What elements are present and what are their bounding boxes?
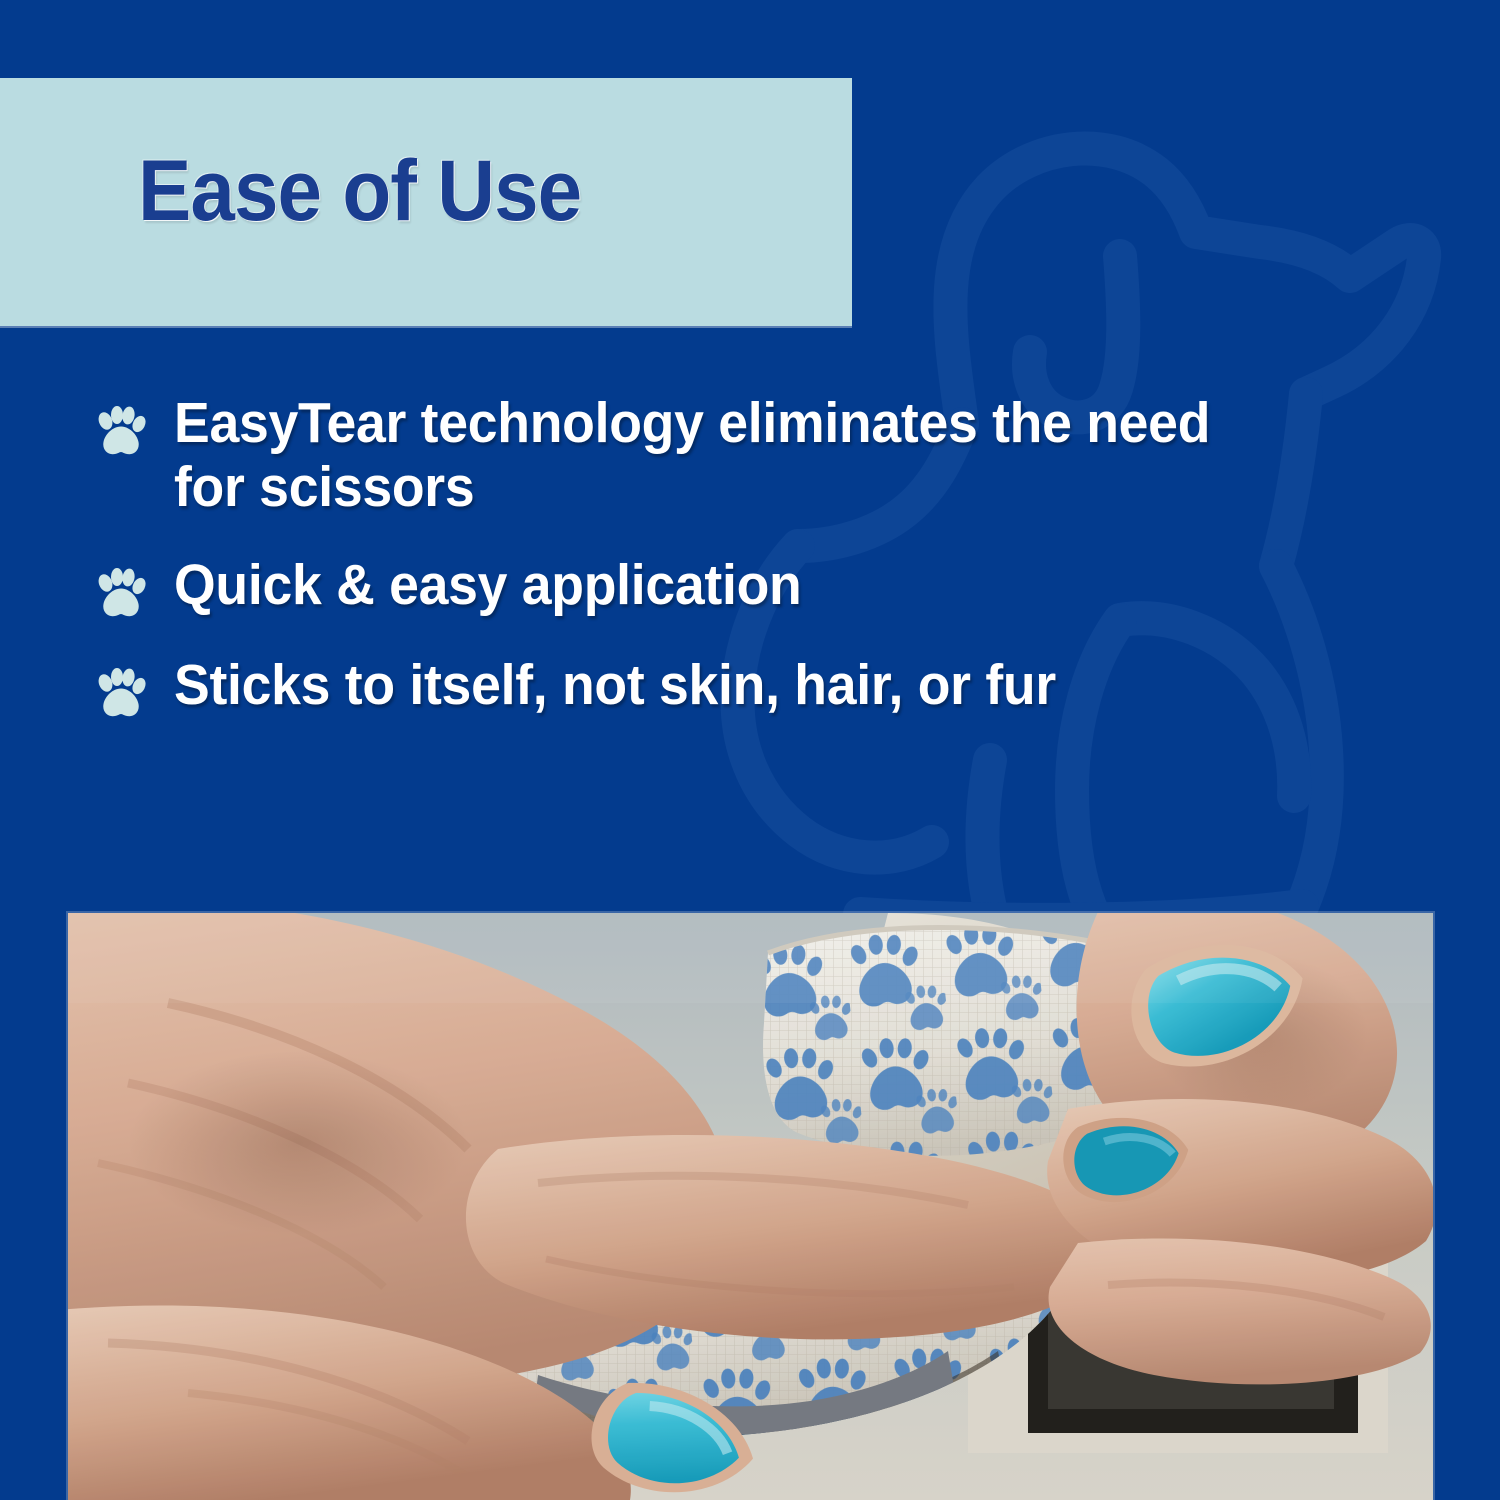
paw-print-icon [96,668,146,720]
page-title: Ease of Use [138,148,581,234]
list-item: EasyTear technology eliminates the need … [96,392,1436,520]
promo-card: Ease of Use EasyTear technology eliminat… [0,0,1500,1500]
list-item-label: Sticks to itself, not skin, hair, or fur [174,654,1056,718]
list-item: Quick & easy application [96,554,1436,620]
hands-tearing-bandage-photo [68,913,1433,1500]
list-item-label: EasyTear technology eliminates the need … [174,392,1255,520]
paw-print-icon [96,406,146,458]
paw-print-icon [96,568,146,620]
list-item: Sticks to itself, not skin, hair, or fur [96,654,1436,720]
list-item-label: Quick & easy application [174,554,801,618]
feature-list: EasyTear technology eliminates the need … [96,392,1436,720]
